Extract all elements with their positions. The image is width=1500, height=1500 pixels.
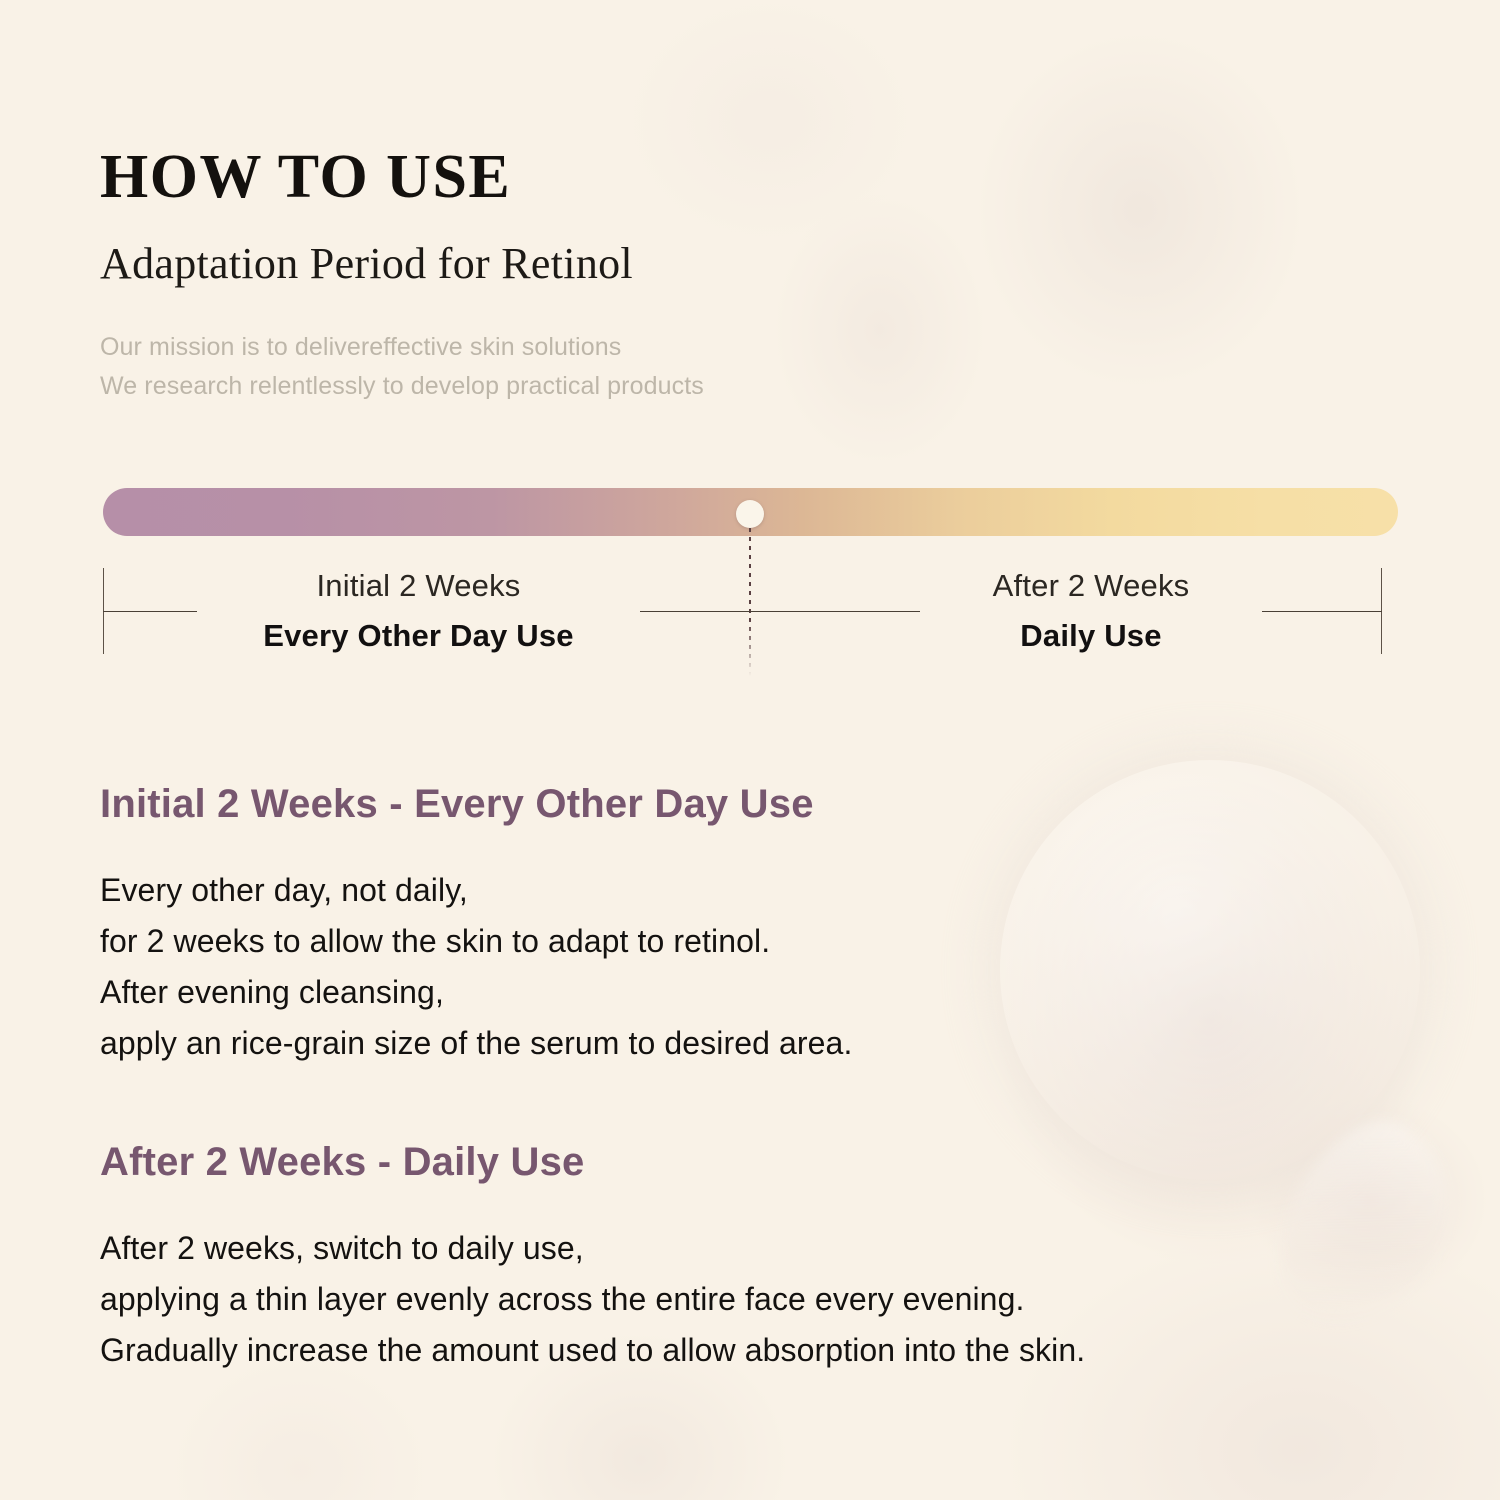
left-bracket-horizontal-rule <box>103 611 197 612</box>
segment-after-bottom-label: Daily Use <box>920 618 1262 654</box>
right-bracket-horizontal-rule <box>1262 611 1382 612</box>
section-initial-line-2: for 2 weeks to allow the skin to adapt t… <box>100 916 852 967</box>
section-initial-line-3: After evening cleansing, <box>100 967 852 1018</box>
segment-after-top-label: After 2 Weeks <box>920 568 1262 604</box>
section-initial-line-1: Every other day, not daily, <box>100 865 852 916</box>
section-after-line-3: Gradually increase the amount used to al… <box>100 1325 1085 1376</box>
section-initial-two-weeks: Initial 2 Weeks - Every Other Day Use Ev… <box>100 782 852 1069</box>
section-initial-heading: Initial 2 Weeks - Every Other Day Use <box>100 782 852 827</box>
timeline-segment-initial: Initial 2 Weeks Every Other Day Use <box>197 568 640 654</box>
section-initial-line-4: apply an rice-grain size of the serum to… <box>100 1018 852 1069</box>
section-after-line-2: applying a thin layer evenly across the … <box>100 1274 1085 1325</box>
timeline-segment-after: After 2 Weeks Daily Use <box>920 568 1262 654</box>
section-after-line-1: After 2 weeks, switch to daily use, <box>100 1223 1085 1274</box>
adaptation-timeline: Initial 2 Weeks Every Other Day Use Afte… <box>0 0 1500 700</box>
section-after-body: After 2 weeks, switch to daily use, appl… <box>100 1223 1085 1376</box>
center-bracket-horizontal-rule <box>640 611 920 612</box>
segment-initial-bottom-label: Every Other Day Use <box>197 618 640 654</box>
segment-initial-top-label: Initial 2 Weeks <box>197 568 640 604</box>
section-initial-body: Every other day, not daily, for 2 weeks … <box>100 865 852 1069</box>
timeline-marker-dot[interactable] <box>736 500 764 528</box>
timeline-divider-dotted-line <box>749 528 751 676</box>
how-to-use-page: HOW TO USE Adaptation Period for Retinol… <box>0 0 1500 1500</box>
section-after-heading: After 2 Weeks - Daily Use <box>100 1140 1085 1185</box>
section-after-two-weeks: After 2 Weeks - Daily Use After 2 weeks,… <box>100 1140 1085 1376</box>
